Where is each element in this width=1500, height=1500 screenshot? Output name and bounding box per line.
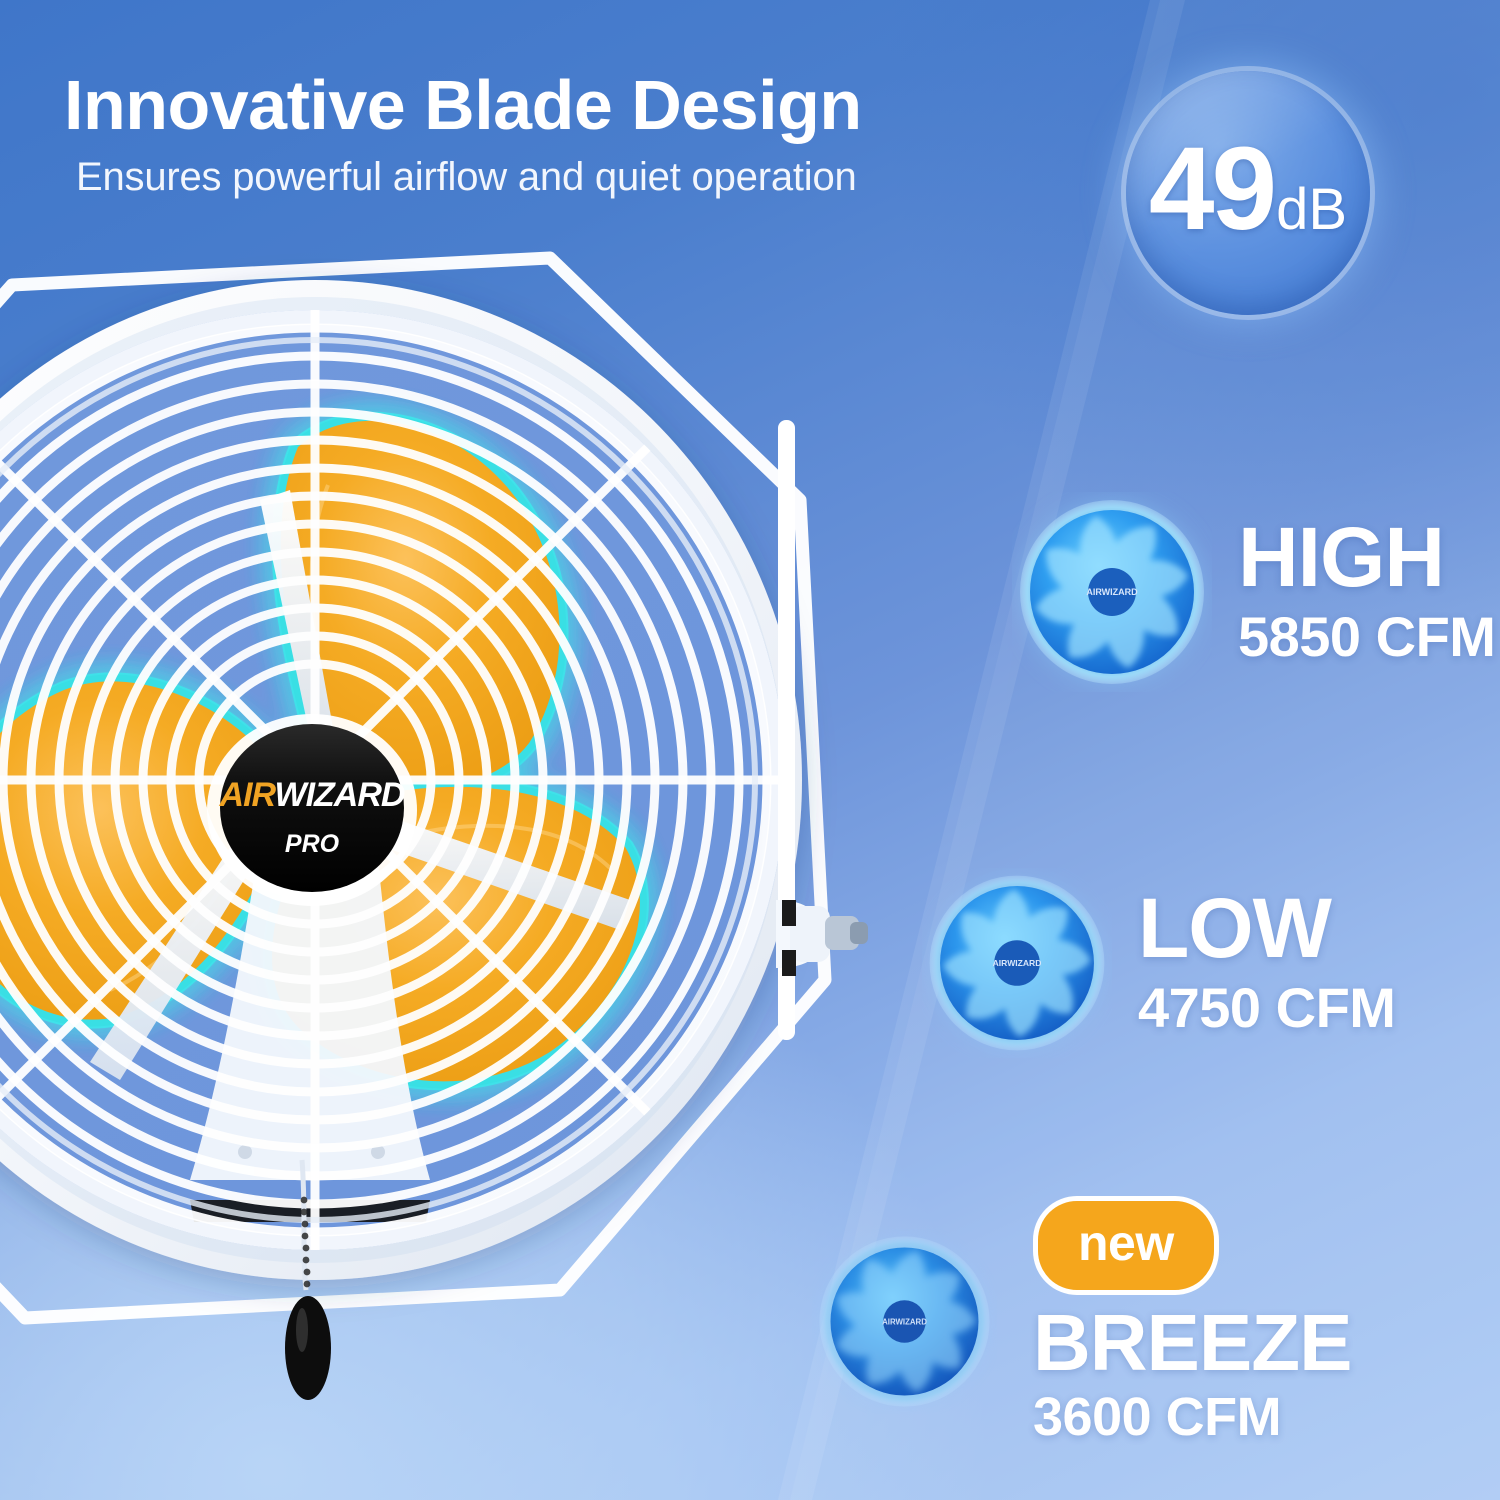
brand-sub: PRO	[285, 830, 340, 858]
product-fan-illustration: AIRWIZARD PRO	[0, 200, 910, 1420]
speed-icon-holder-low: AIRWIZARD	[922, 868, 1112, 1058]
speed-cfm-high: 5850 CFM	[1238, 606, 1495, 668]
page-subtitle: Ensures powerful airflow and quiet opera…	[76, 156, 1064, 198]
speed-name-high: HIGH	[1238, 517, 1495, 598]
noise-level-inner: 49 dB	[1149, 130, 1347, 248]
speed-name-breeze: BREEZE	[1033, 1305, 1352, 1382]
page-title: Innovative Blade Design	[64, 70, 1064, 140]
mini-fan-hub-label: AIRWIZARD	[1086, 587, 1138, 597]
spinning-fan-icon: AIRWIZARD	[812, 1229, 997, 1414]
speed-icon-holder-high: AIRWIZARD	[1012, 492, 1212, 692]
speed-row-low: AIRWIZARD LOW 4750 CFM	[922, 868, 1395, 1058]
brand-secondary: WIZARD	[274, 776, 404, 814]
fan-mount-bracket	[776, 420, 868, 1040]
mini-fan-hub-label: AIRWIZARD	[993, 958, 1042, 968]
speed-cfm-low: 4750 CFM	[1138, 977, 1395, 1039]
new-badge: new	[1033, 1196, 1219, 1295]
noise-level-unit: dB	[1276, 181, 1347, 239]
brand-primary: AIR	[219, 776, 277, 814]
svg-text:AIRWIZARD: AIRWIZARD	[219, 776, 405, 814]
speed-icon-holder-breeze: AIRWIZARD	[812, 1229, 997, 1414]
spinning-fan-icon: AIRWIZARD	[1012, 492, 1212, 692]
speed-text-high: HIGH 5850 CFM	[1238, 517, 1495, 667]
speed-cfm-breeze: 3600 CFM	[1033, 1388, 1352, 1447]
spinning-fan-icon: AIRWIZARD	[922, 868, 1112, 1058]
speed-text-low: LOW 4750 CFM	[1138, 888, 1395, 1038]
headline-block: Innovative Blade Design Ensures powerful…	[64, 70, 1064, 198]
speed-row-high: AIRWIZARD HIGH 5850 CFM	[1012, 492, 1495, 692]
speed-name-low: LOW	[1138, 888, 1395, 969]
speed-text-breeze: new BREEZE 3600 CFM	[1033, 1196, 1352, 1447]
mini-fan-hub-label: AIRWIZARD	[882, 1317, 927, 1326]
product-feature-image: Innovative Blade Design Ensures powerful…	[0, 0, 1500, 1500]
speed-row-breeze: AIRWIZARD new BREEZE 3600 CFM	[812, 1196, 1352, 1447]
noise-level-value: 49	[1149, 130, 1274, 248]
fan-hub: AIRWIZARD PRO	[207, 714, 417, 906]
new-badge-wrap: new	[1033, 1196, 1352, 1305]
noise-level-badge: 49 dB	[1126, 71, 1370, 315]
